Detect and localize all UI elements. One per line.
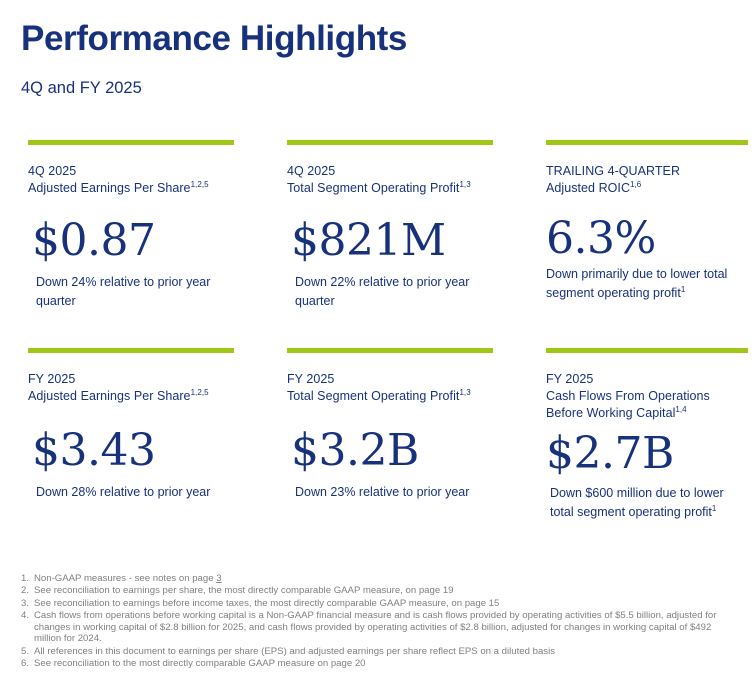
metric-card-fy-segment-profit: FY 2025 Total Segment Operating Profit1,… [287, 348, 493, 502]
footnote-text-body: Non-GAAP measures - see notes on page [34, 573, 216, 584]
metric-card-label: 4Q 2025 Adjusted Earnings Per Share1,2,5 [28, 145, 234, 197]
footnote-item: 3. See reconciliation to earnings before… [21, 598, 737, 610]
metric-period: FY 2025 [287, 371, 493, 388]
performance-highlights-slide: { "header": { "title": "Performance High… [0, 0, 752, 683]
metric-note-text: Down primarily due to lower total segmen… [546, 267, 727, 300]
metric-value: $3.2B [287, 405, 493, 475]
metric-value: $0.87 [28, 197, 234, 265]
metric-note-text: Down 24% relative to prior year quarter [36, 275, 210, 308]
metric-note-footnote-ref: 1 [681, 285, 685, 294]
metric-value: $2.7B [546, 422, 748, 478]
footnote-text: Cash flows from operations before workin… [34, 610, 737, 645]
footnote-number: 1. [21, 573, 34, 585]
metric-row-fullyear: FY 2025 Adjusted Earnings Per Share1,2,5… [0, 348, 752, 556]
footnote-text: See reconciliation to earnings before in… [34, 598, 737, 610]
footnote-number: 5. [21, 646, 34, 658]
metric-footnote-ref: 1,2,5 [191, 180, 209, 189]
footnote-page-link[interactable]: 3 [216, 573, 221, 584]
footnote-text: See reconciliation to earnings per share… [34, 585, 737, 597]
footnote-item: 6. See reconciliation to the most direct… [21, 658, 737, 670]
footnote-text: Non-GAAP measures - see notes on page 3 [34, 573, 737, 585]
metric-name: Adjusted ROIC [546, 181, 630, 195]
metric-value: 6.3% [546, 197, 748, 263]
footnote-text: See reconciliation to the most directly … [34, 658, 737, 670]
footnote-text: All references in this document to earni… [34, 646, 737, 658]
metric-row-quarter: 4Q 2025 Adjusted Earnings Per Share1,2,5… [0, 140, 752, 348]
metric-name: Adjusted Earnings Per Share [28, 389, 191, 403]
metric-card-4q-eps: 4Q 2025 Adjusted Earnings Per Share1,2,5… [28, 140, 234, 311]
metric-note-text: Down 28% relative to prior year [36, 485, 210, 499]
metric-card-trailing-roic: TRAILING 4-QUARTER Adjusted ROIC1,6 6.3%… [546, 140, 748, 303]
metric-period: TRAILING 4-QUARTER [546, 163, 748, 180]
metric-note: Down 28% relative to prior year [28, 475, 221, 502]
metric-name: Total Segment Operating Profit [287, 389, 459, 403]
metric-card-4q-segment-profit: 4Q 2025 Total Segment Operating Profit1,… [287, 140, 493, 311]
metric-note: Down 23% relative to prior year [287, 475, 480, 502]
footnote-list: 1. Non-GAAP measures - see notes on page… [21, 573, 737, 670]
footnote-number: 4. [21, 610, 34, 622]
metric-card-label: FY 2025 Cash Flows From Operations Befor… [546, 353, 748, 422]
metric-card-fy-eps: FY 2025 Adjusted Earnings Per Share1,2,5… [28, 348, 234, 502]
metric-note: Down 22% relative to prior year quarter [287, 265, 480, 311]
footnote-item: 5. All references in this document to ea… [21, 646, 737, 658]
page-title: Performance Highlights [21, 18, 721, 60]
page-subtitle: 4Q and FY 2025 [21, 60, 721, 98]
metric-card-label: FY 2025 Adjusted Earnings Per Share1,2,5 [28, 353, 234, 405]
metric-card-label: 4Q 2025 Total Segment Operating Profit1,… [287, 145, 493, 197]
metric-value: $821M [287, 197, 493, 265]
metric-note-footnote-ref: 1 [712, 504, 716, 513]
metric-card-grid: 4Q 2025 Adjusted Earnings Per Share1,2,5… [0, 140, 752, 556]
metric-footnote-ref: 1,4 [675, 405, 686, 414]
footnote-number: 2. [21, 585, 34, 597]
metric-period: 4Q 2025 [287, 163, 493, 180]
metric-period: 4Q 2025 [28, 163, 234, 180]
metric-period: FY 2025 [546, 371, 748, 388]
metric-note: Down primarily due to lower total segmen… [546, 263, 731, 303]
metric-value: $3.43 [28, 405, 234, 475]
metric-footnote-ref: 1,2,5 [191, 388, 209, 397]
slide-header: Performance Highlights 4Q and FY 2025 [21, 18, 721, 98]
metric-period: FY 2025 [28, 371, 234, 388]
metric-name: Total Segment Operating Profit [287, 181, 459, 195]
footnote-item: 2. See reconciliation to earnings per sh… [21, 585, 737, 597]
metric-note: Down 24% relative to prior year quarter [28, 265, 221, 311]
metric-note-text: Down $600 million due to lower total seg… [550, 486, 724, 519]
metric-footnote-ref: 1,6 [630, 180, 641, 189]
footnote-item: 4. Cash flows from operations before wor… [21, 610, 737, 645]
footnote-number: 6. [21, 658, 34, 670]
metric-note: Down $600 million due to lower total seg… [546, 478, 735, 522]
metric-footnote-ref: 1,3 [459, 388, 470, 397]
metric-name: Adjusted Earnings Per Share [28, 181, 191, 195]
metric-card-label: TRAILING 4-QUARTER Adjusted ROIC1,6 [546, 145, 748, 197]
metric-note-text: Down 22% relative to prior year quarter [295, 275, 469, 308]
metric-card-fy-cash-flows: FY 2025 Cash Flows From Operations Befor… [546, 348, 748, 522]
metric-footnote-ref: 1,3 [459, 180, 470, 189]
footnote-number: 3. [21, 598, 34, 610]
metric-card-label: FY 2025 Total Segment Operating Profit1,… [287, 353, 493, 405]
metric-note-text: Down 23% relative to prior year [295, 485, 469, 499]
footnote-item: 1. Non-GAAP measures - see notes on page… [21, 573, 737, 585]
